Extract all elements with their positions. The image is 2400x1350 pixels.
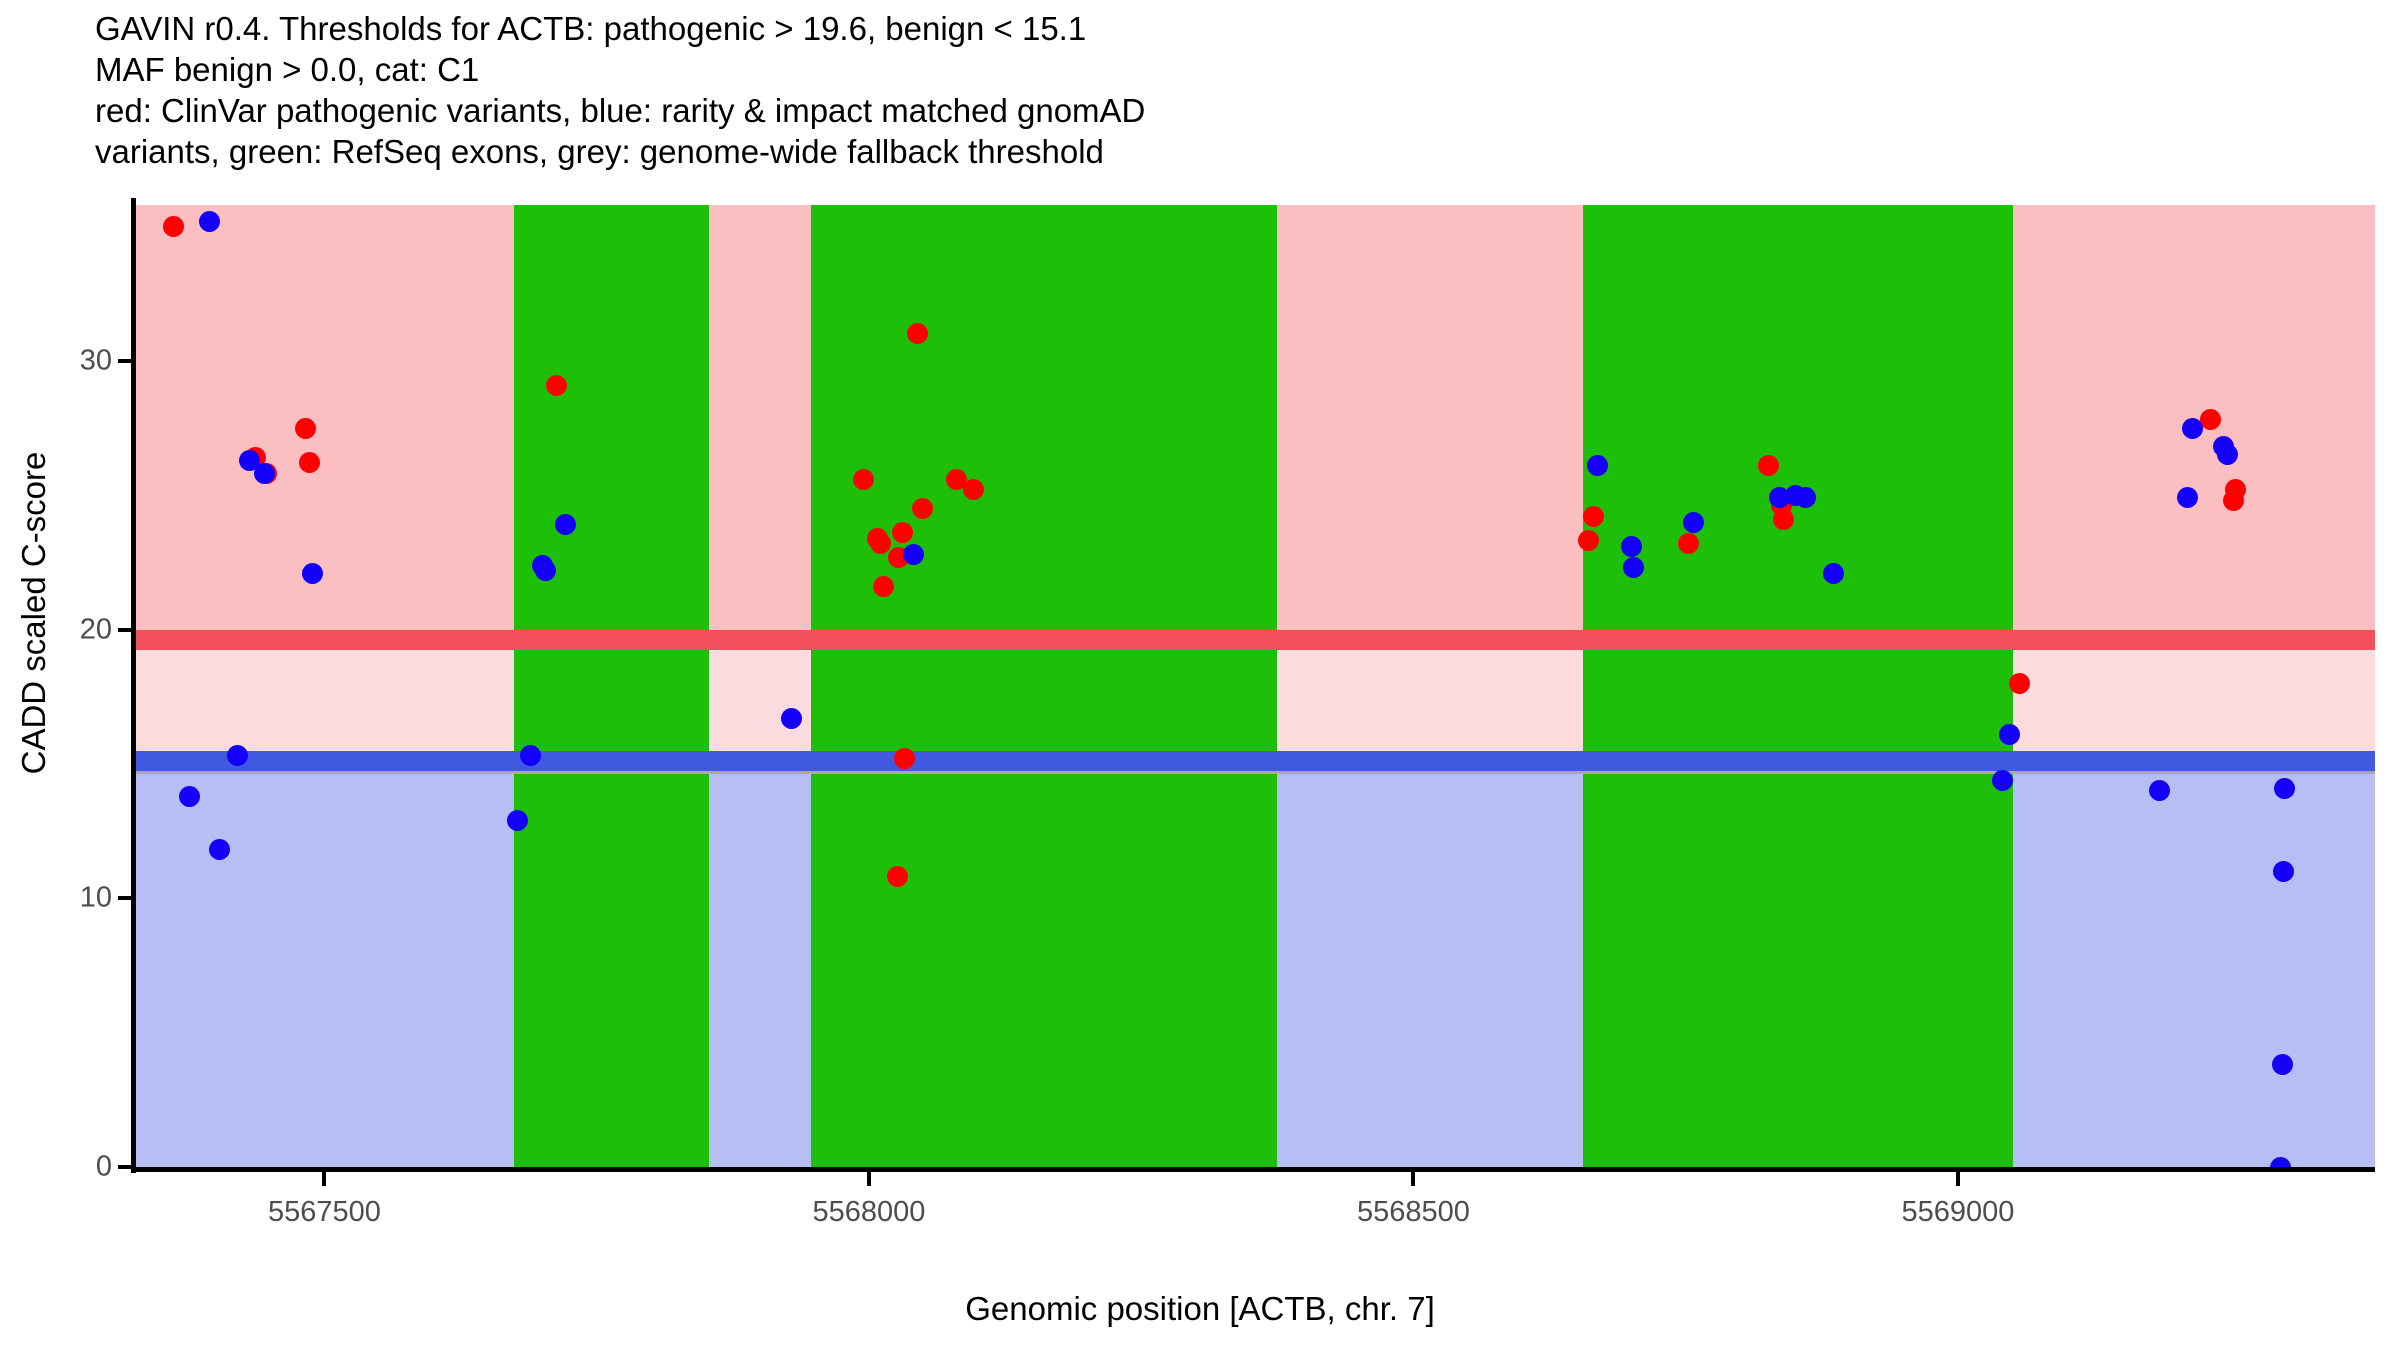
gnomad-variant-point — [520, 745, 541, 766]
x-tick-label: 5568000 — [813, 1196, 926, 1229]
gnomad-variant-point — [507, 810, 528, 831]
gnomad-variant-point — [2182, 418, 2203, 439]
y-tick-mark — [118, 359, 132, 363]
title-line-2: MAF benign > 0.0, cat: C1 — [95, 49, 2375, 90]
gnomad-variant-point — [1621, 536, 1642, 557]
x-tick-label: 5569000 — [1901, 1196, 2014, 1229]
pathogenic-variant-point — [163, 216, 184, 237]
gnomad-variant-point — [535, 560, 556, 581]
gnomad-variant-point — [903, 544, 924, 565]
pathogenic-variant-point — [853, 469, 874, 490]
benign-threshold-line — [135, 751, 2375, 771]
pathogenic-variant-point — [1583, 506, 1604, 527]
gnomad-variant-point — [2274, 778, 2295, 799]
y-axis-line — [131, 198, 136, 1173]
pathogenic-variant-point — [1758, 455, 1779, 476]
title-line-3: red: ClinVar pathogenic variants, blue: … — [95, 90, 2375, 131]
gnomad-variant-point — [555, 514, 576, 535]
pathogenic-variant-point — [295, 418, 316, 439]
x-tick-mark — [1411, 1172, 1415, 1186]
title-line-4: variants, green: RefSeq exons, grey: gen… — [95, 131, 2375, 172]
x-tick-label: 5567500 — [268, 1196, 381, 1229]
pathogenic-threshold-line — [135, 630, 2375, 650]
pathogenic-variant-point — [873, 576, 894, 597]
gnomad-variant-point — [1683, 512, 1704, 533]
gnomad-variant-point — [1999, 724, 2020, 745]
pathogenic-variant-point — [887, 866, 908, 887]
y-tick-label: 0 — [16, 1151, 112, 1184]
plot-panel — [135, 205, 2375, 1167]
plot-title-block: GAVIN r0.4. Thresholds for ACTB: pathoge… — [95, 8, 2375, 172]
exon-band-1 — [514, 205, 709, 1167]
gnomad-variant-point — [1992, 770, 2013, 791]
gnomad-variant-point — [1823, 563, 1844, 584]
gnomad-variant-point — [302, 563, 323, 584]
gnomad-variant-point — [781, 708, 802, 729]
gnomad-variant-point — [1587, 455, 1608, 476]
gnomad-variant-point — [199, 211, 220, 232]
gnomad-variant-point — [179, 786, 200, 807]
gnomad-variant-point — [1623, 557, 1644, 578]
plot-root: GAVIN r0.4. Thresholds for ACTB: pathoge… — [0, 0, 2400, 1350]
y-tick-mark — [118, 896, 132, 900]
x-tick-label: 5568500 — [1357, 1196, 1470, 1229]
x-axis-title: Genomic position [ACTB, chr. 7] — [0, 1290, 2400, 1328]
y-axis-title: CADD scaled C-score — [15, 293, 53, 933]
pathogenic-variant-point — [2223, 490, 2244, 511]
gnomad-variant-point — [2273, 861, 2294, 882]
x-tick-mark — [1956, 1172, 1960, 1186]
x-tick-mark — [322, 1172, 326, 1186]
x-tick-mark — [867, 1172, 871, 1186]
pathogenic-variant-point — [912, 498, 933, 519]
exon-band-2 — [811, 205, 1277, 1167]
x-axis-line — [131, 1167, 2375, 1172]
pathogenic-variant-point — [546, 375, 567, 396]
exon-band-4 — [1752, 205, 2013, 1167]
pathogenic-variant-point — [1773, 509, 1794, 530]
y-tick-mark — [118, 628, 132, 632]
title-line-1: GAVIN r0.4. Thresholds for ACTB: pathoge… — [95, 8, 2375, 49]
y-tick-mark — [118, 1165, 132, 1169]
